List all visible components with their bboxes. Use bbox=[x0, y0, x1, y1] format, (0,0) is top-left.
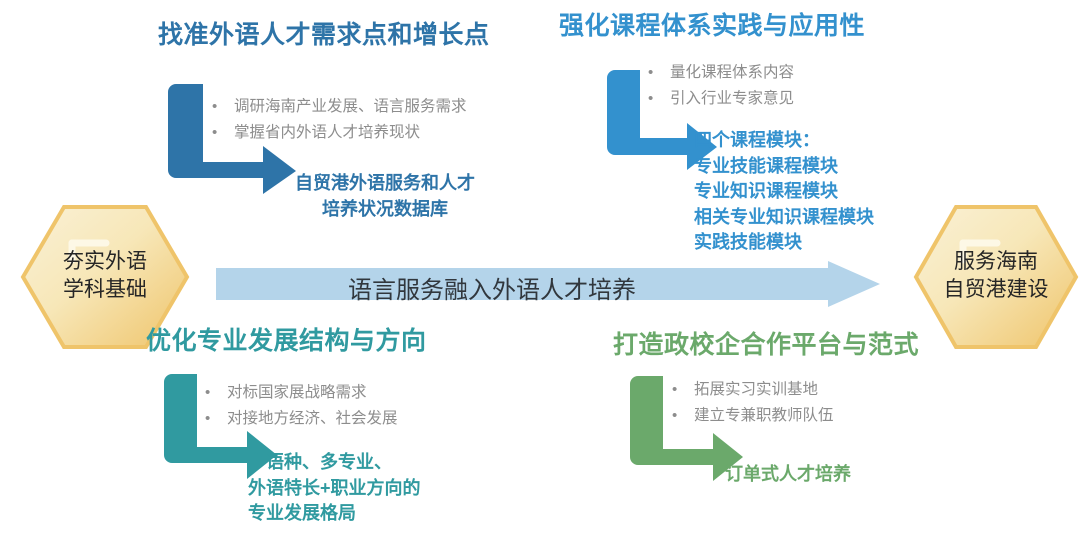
outcome-line: 专业技能课程模块 bbox=[694, 154, 874, 180]
quadrant-bottom-left-bullets: • 对标国家展战略需求 • 对接地方经济、社会发展 bbox=[205, 380, 398, 432]
quadrant-bottom-right-outcome: 订单式人才培养 bbox=[725, 462, 851, 488]
bullet-text: 对标国家展战略需求 bbox=[227, 380, 367, 406]
quadrant-top-left-outcome: 自贸港外语服务和人才 培养状况数据库 bbox=[260, 171, 510, 222]
bullet-item: • 建立专兼职教师队伍 bbox=[672, 403, 834, 429]
quadrant-bottom-left: 优化专业发展结构与方向 bbox=[146, 328, 427, 356]
bullet-item: • 对标国家展战略需求 bbox=[205, 380, 398, 406]
quadrant-top-right-bullets: • 量化课程体系内容 • 引入行业专家意见 bbox=[648, 60, 794, 112]
bullet-icon: • bbox=[212, 95, 234, 120]
outcome-line: 自贸港外语服务和人才 bbox=[260, 171, 510, 197]
quadrant-top-left-bullets: • 调研海南产业发展、语言服务需求 • 掌握省内外语人才培养现状 bbox=[212, 94, 467, 146]
quadrant-bottom-left-outcome: 多语种、多专业、 外语特长+职业方向的 专业发展格局 bbox=[248, 450, 421, 527]
hexagon-right-line2: 自贸港建设 bbox=[913, 275, 1079, 303]
outcome-line: 多语种、多专业、 bbox=[248, 450, 421, 476]
quadrant-bottom-right-heading: 打造政校企合作平台与范式 bbox=[613, 332, 919, 360]
bullet-item: • 引入行业专家意见 bbox=[648, 86, 794, 112]
diagram-canvas: 找准外语人才需求点和增长点 • 调研海南产业发展、语言服务需求 • 掌握省内外语… bbox=[0, 0, 1080, 548]
quadrant-top-left: 找准外语人才需求点和增长点 bbox=[158, 22, 490, 50]
hexagon-right[interactable]: 服务海南 自贸港建设 bbox=[913, 203, 1079, 351]
bullet-item: • 调研海南产业发展、语言服务需求 bbox=[212, 94, 467, 120]
bullet-item: • 拓展实习实训基地 bbox=[672, 377, 834, 403]
bullet-icon: • bbox=[672, 404, 694, 429]
outcome-line: 培养状况数据库 bbox=[260, 197, 510, 223]
hexagon-right-line1: 服务海南 bbox=[913, 247, 1079, 275]
quadrant-top-right-heading: 强化课程体系实践与应用性 bbox=[559, 13, 865, 41]
bullet-text: 拓展实习实训基地 bbox=[694, 377, 818, 403]
hexagon-left-line1: 夯实外语 bbox=[20, 247, 190, 275]
outcome-line: 专业发展格局 bbox=[248, 501, 421, 527]
outcome-line: 外语特长+职业方向的 bbox=[248, 476, 421, 502]
bullet-icon: • bbox=[205, 407, 227, 432]
bullet-text: 掌握省内外语人才培养现状 bbox=[234, 120, 420, 146]
quadrant-top-left-heading: 找准外语人才需求点和增长点 bbox=[158, 22, 490, 50]
outcome-line: 四个课程模块： bbox=[694, 128, 874, 154]
bullet-text: 量化课程体系内容 bbox=[670, 60, 794, 86]
bullet-item: • 量化课程体系内容 bbox=[648, 60, 794, 86]
quadrant-top-right: 强化课程体系实践与应用性 bbox=[559, 13, 865, 41]
bullet-text: 引入行业专家意见 bbox=[670, 86, 794, 112]
center-arrow: 语言服务融入外语人才培养 bbox=[216, 261, 880, 307]
bullet-icon: • bbox=[648, 87, 670, 112]
outcome-line: 实践技能模块 bbox=[694, 230, 874, 256]
bullet-icon: • bbox=[672, 378, 694, 403]
bullet-icon: • bbox=[648, 61, 670, 86]
bullet-text: 建立专兼职教师队伍 bbox=[694, 403, 834, 429]
hexagon-left-label: 夯实外语 学科基础 bbox=[20, 247, 190, 304]
center-arrow-label: 语言服务融入外语人才培养 bbox=[348, 270, 636, 305]
quadrant-top-right-outcome: 四个课程模块： 专业技能课程模块 专业知识课程模块 相关专业知识课程模块 实践技… bbox=[694, 128, 874, 256]
bullet-icon: • bbox=[205, 381, 227, 406]
outcome-line: 相关专业知识课程模块 bbox=[694, 205, 874, 231]
quadrant-bottom-left-heading: 优化专业发展结构与方向 bbox=[146, 328, 427, 356]
bullet-item: • 掌握省内外语人才培养现状 bbox=[212, 120, 467, 146]
bullet-text: 对接地方经济、社会发展 bbox=[227, 406, 398, 432]
quadrant-bottom-right: 打造政校企合作平台与范式 bbox=[613, 332, 919, 360]
outcome-line: 专业知识课程模块 bbox=[694, 179, 874, 205]
quadrant-bottom-right-bullets: • 拓展实习实训基地 • 建立专兼职教师队伍 bbox=[672, 377, 834, 429]
hexagon-right-label: 服务海南 自贸港建设 bbox=[913, 247, 1079, 304]
outcome-line: 订单式人才培养 bbox=[725, 462, 851, 488]
hexagon-left-line2: 学科基础 bbox=[20, 275, 190, 303]
bullet-icon: • bbox=[212, 121, 234, 146]
bullet-item: • 对接地方经济、社会发展 bbox=[205, 406, 398, 432]
bullet-text: 调研海南产业发展、语言服务需求 bbox=[234, 94, 467, 120]
